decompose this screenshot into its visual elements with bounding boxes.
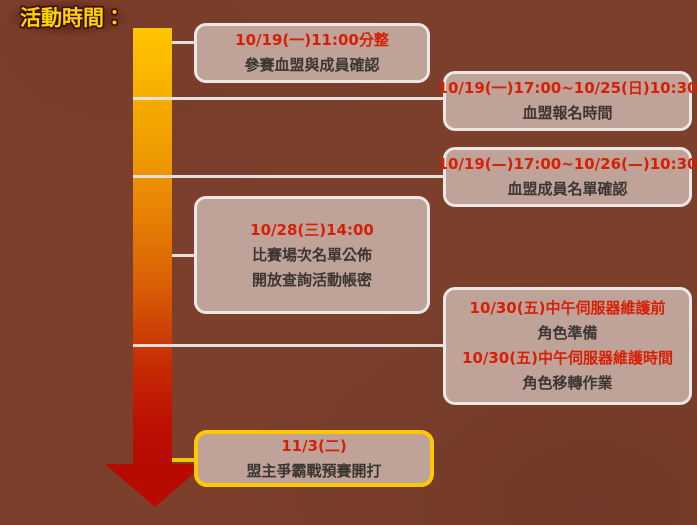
connector-line-2 xyxy=(133,97,445,100)
event-4-line-1: 10/28(三)14:00 xyxy=(250,218,374,243)
event-1-line-1: 10/19(一)11:00分整 xyxy=(235,28,389,53)
event-5-line-4: 角色移轉作業 xyxy=(522,371,612,396)
page-title: 活動時間： xyxy=(20,5,125,31)
event-5-line-1: 10/30(五)中午伺服器維護前 xyxy=(470,296,666,321)
event-box-1[interactable]: 10/19(一)11:00分整參賽血盟與成員確認 xyxy=(194,23,430,83)
event-6-line-2: 盟主爭霸戰預賽開打 xyxy=(246,459,381,484)
timeline-arrow-head xyxy=(105,464,205,507)
event-5-line-2: 角色準備 xyxy=(537,321,597,346)
event-6-line-1: 11/3(二) xyxy=(281,434,347,459)
connector-line-3 xyxy=(133,175,445,178)
event-3-line-1: 10/19(—)17:00~10/26(—)10:30 xyxy=(438,152,697,177)
event-2-line-2: 血盟報名時間 xyxy=(522,101,612,126)
event-3-line-2: 血盟成員名單確認 xyxy=(507,177,627,202)
event-box-4[interactable]: 10/28(三)14:00比賽場次名單公佈開放查詢活動帳密 xyxy=(194,196,430,314)
connector-line-5 xyxy=(133,344,445,347)
event-1-line-2: 參賽血盟與成員確認 xyxy=(244,53,379,78)
event-box-2[interactable]: 10/19(一)17:00~10/25(日)10:30血盟報名時間 xyxy=(443,71,692,131)
event-box-6[interactable]: 11/3(二)盟主爭霸戰預賽開打 xyxy=(194,430,434,487)
timeline-infographic: 活動時間： 10/19(一)11:00分整參賽血盟與成員確認10/19(一)17… xyxy=(0,0,697,525)
connector-line-4 xyxy=(172,254,196,257)
event-box-5[interactable]: 10/30(五)中午伺服器維護前角色準備10/30(五)中午伺服器維護時間角色移… xyxy=(443,287,692,405)
connector-line-1 xyxy=(172,41,196,44)
event-5-line-3: 10/30(五)中午伺服器維護時間 xyxy=(462,346,673,371)
event-box-3[interactable]: 10/19(—)17:00~10/26(—)10:30血盟成員名單確認 xyxy=(443,147,692,207)
event-2-line-1: 10/19(一)17:00~10/25(日)10:30 xyxy=(438,76,697,101)
connector-line-6 xyxy=(172,458,196,462)
event-4-line-2: 比賽場次名單公佈 xyxy=(252,243,372,268)
timeline-arrow-shaft xyxy=(133,28,172,466)
event-4-line-3: 開放查詢活動帳密 xyxy=(252,268,372,293)
